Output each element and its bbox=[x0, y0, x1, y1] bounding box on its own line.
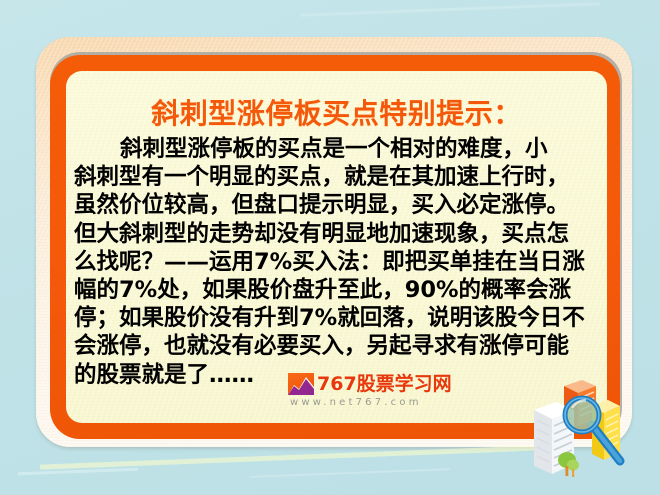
site-watermark: 767股票学习网 www.net767.com bbox=[288, 373, 452, 408]
body-line: 停；如果股价没有升到7%就回落，说明该股今日不 bbox=[74, 304, 599, 332]
background-streak bbox=[300, 2, 600, 17]
body-text-block: 斜刺型涨停板的买点是一个相对的难度，小 斜刺型有一个明显的买点，就是在其加速上行… bbox=[74, 135, 599, 389]
content-page: 斜刺型涨停板买点特别提示： 斜刺型涨停板的买点是一个相对的难度，小 斜刺型有一个… bbox=[66, 71, 607, 423]
body-line: 但大斜刺型的走势却没有明显地加速现象，买点怎 bbox=[74, 220, 599, 248]
body-line: 幅的7%处，如果股价盘升至此，90%的概率会涨 bbox=[74, 276, 599, 304]
watermark-url: www.net767.com bbox=[288, 397, 452, 408]
slide-canvas: 斜刺型涨停板买点特别提示： 斜刺型涨停板的买点是一个相对的难度，小 斜刺型有一个… bbox=[0, 0, 660, 495]
body-line: 么找呢？——运用7%买入法：即把买单挂在当日涨 bbox=[74, 248, 599, 276]
green-tree bbox=[558, 452, 579, 477]
background-streak bbox=[40, 445, 540, 469]
chart-mountain-icon bbox=[288, 373, 314, 395]
body-line: 斜刺型涨停板的买点是一个相对的难度，小 bbox=[74, 135, 599, 163]
body-line: 虽然价位较高，但盘口提示明显，买入必定涨停。 bbox=[74, 191, 599, 219]
background-streak bbox=[18, 468, 138, 476]
watermark-logo-row: 767股票学习网 bbox=[288, 373, 452, 395]
body-line: 会涨停，也就没有必要买入，另起寻求有涨停可能 bbox=[74, 332, 599, 360]
page-title: 斜刺型涨停板买点特别提示： bbox=[66, 92, 607, 132]
body-line: 斜刺型有一个明显的买点，就是在其加速上行时， bbox=[74, 163, 599, 191]
background-streak bbox=[250, 468, 450, 478]
watermark-brand: 767股票学习网 bbox=[317, 373, 452, 395]
